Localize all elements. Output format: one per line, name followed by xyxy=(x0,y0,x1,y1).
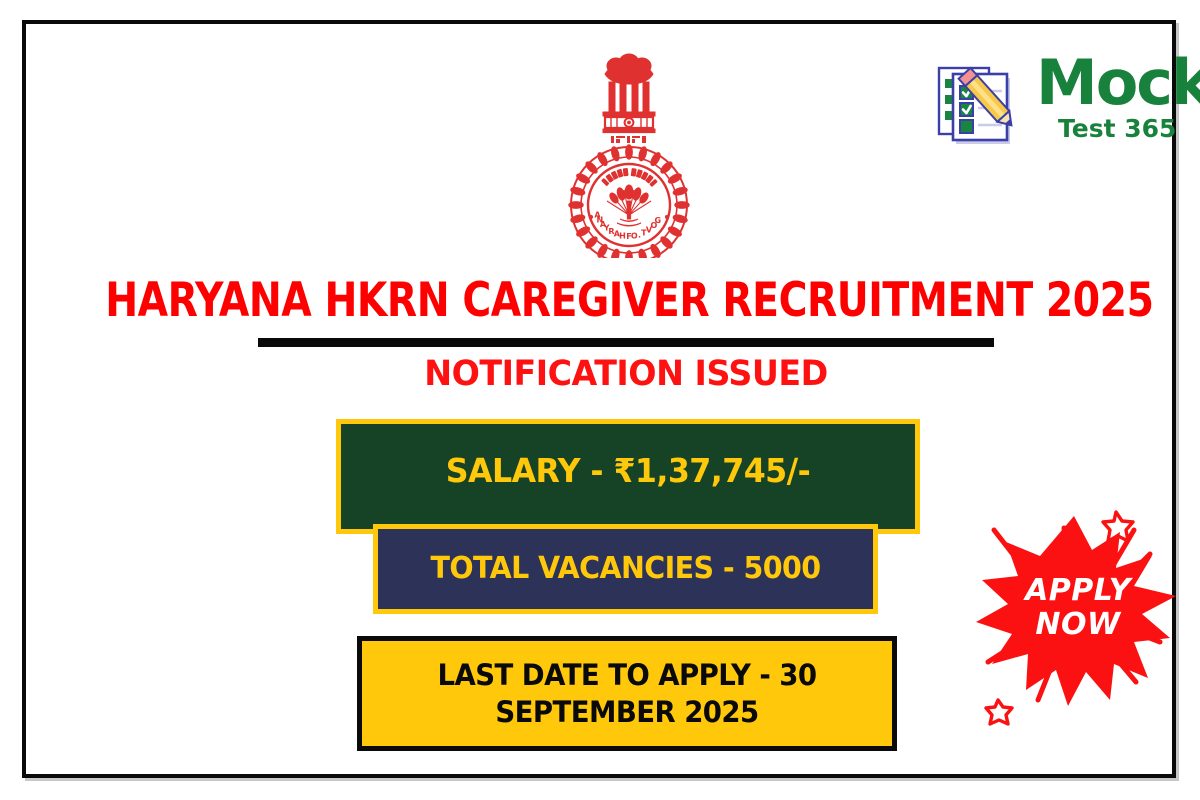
last-date-box: LAST DATE TO APPLY - 30 SEPTEMBER 2025 xyxy=(357,636,897,751)
svg-text:A: A xyxy=(594,211,601,220)
poster-frame: G O V T . O F H A R Y A N xyxy=(22,20,1176,778)
svg-text:A: A xyxy=(614,230,621,239)
recruitment-poster: G O V T . O F H A R Y A N xyxy=(0,0,1200,800)
apply-now-badge[interactable]: APPLY NOW xyxy=(964,492,1192,728)
last-date-line-2: SEPTEMBER 2025 xyxy=(375,694,879,731)
title-divider xyxy=(258,338,994,347)
page-subtitle: NOTIFICATION ISSUED xyxy=(94,354,1158,394)
mock-test-365-logo[interactable]: Mock Test 365 xyxy=(936,58,1182,154)
last-date-line-1: LAST DATE TO APPLY - 30 xyxy=(375,657,879,694)
svg-text:F: F xyxy=(626,232,631,241)
svg-text:H: H xyxy=(619,231,626,240)
logo-word-test365: Test 365 xyxy=(1058,116,1176,141)
page-title: HARYANA HKRN CAREGIVER RECRUITMENT 2025 xyxy=(105,276,1147,325)
total-vacancies-box: TOTAL VACANCIES - 5000 xyxy=(373,524,878,614)
logo-wordmark: Mock Test 365 xyxy=(1036,58,1182,150)
svg-text:V: V xyxy=(646,226,653,235)
logo-word-mock: Mock xyxy=(1036,52,1200,114)
svg-text:.: . xyxy=(638,230,641,239)
salary-box: SALARY - ₹1,37,745/- xyxy=(336,419,920,534)
last-date-label: LAST DATE TO APPLY - 30 SEPTEMBER 2025 xyxy=(375,657,879,731)
svg-text:O: O xyxy=(631,232,638,241)
haryana-government-emblem: G O V T . O F H A R Y A N xyxy=(554,50,704,258)
total-vacancies-label: TOTAL VACANCIES - 5000 xyxy=(390,551,860,586)
svg-text:T: T xyxy=(641,229,647,238)
salary-label: SALARY - ₹1,37,745/- xyxy=(352,451,903,490)
checklist-pencil-icon xyxy=(936,62,1032,148)
